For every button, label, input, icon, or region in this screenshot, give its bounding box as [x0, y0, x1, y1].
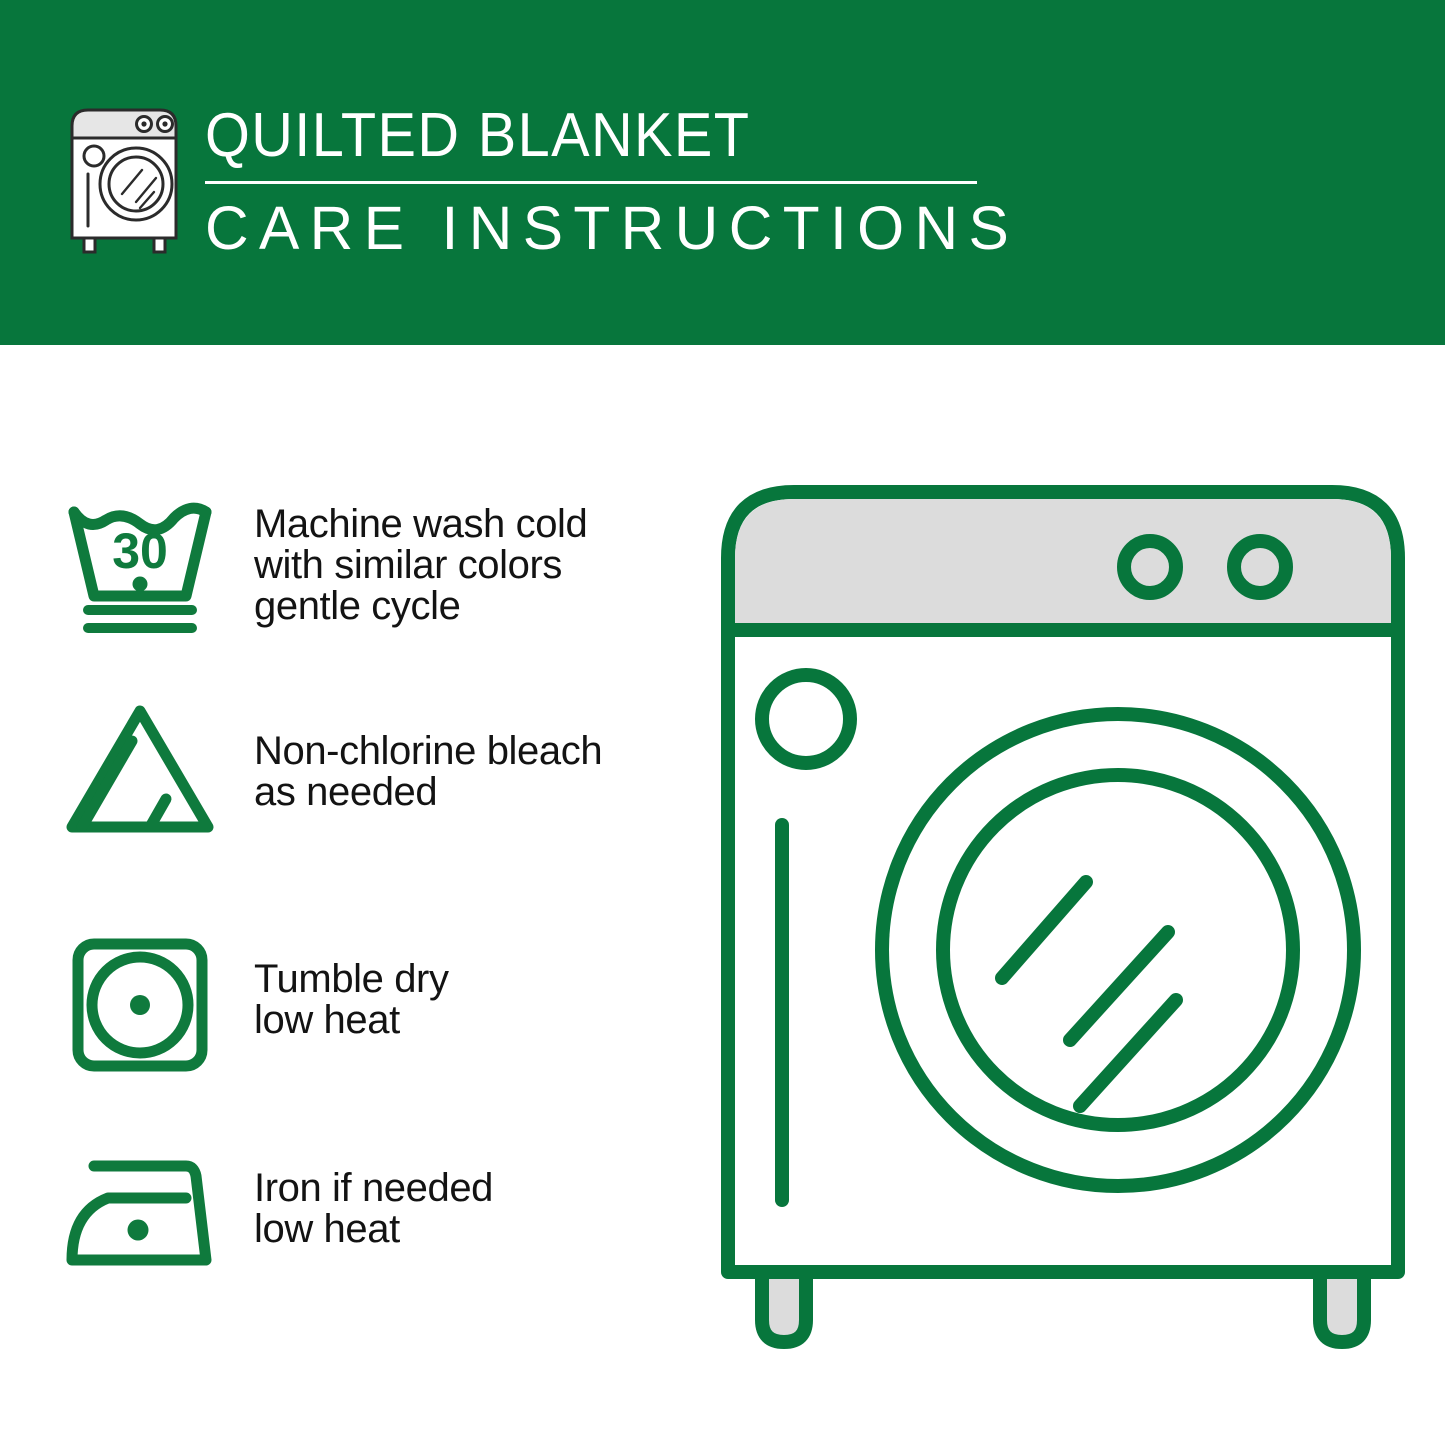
page-subtitle: CARE INSTRUCTIONS — [205, 195, 972, 261]
care-text-iron: Iron if needed low heat — [240, 1140, 680, 1250]
machine-wash-30-gentle-icon: 30 — [60, 488, 240, 638]
title-divider — [205, 181, 977, 184]
header-banner: QUILTED BLANKET CARE INSTRUCTIONS — [0, 0, 1445, 345]
care-line: Machine wash cold — [254, 504, 680, 545]
iron-low-heat-icon — [60, 1140, 240, 1290]
wash-temperature-value: 30 — [112, 523, 168, 579]
washing-machine-icon — [66, 104, 186, 256]
care-line: as needed — [254, 772, 680, 813]
care-line: with similar colors — [254, 545, 680, 586]
care-text-bleach: Non-chlorine bleach as needed — [240, 695, 680, 813]
care-instruction-list: 30 Machine wash cold with similar colors… — [0, 345, 700, 1445]
care-text-tumble-dry: Tumble dry low heat — [240, 930, 680, 1041]
care-line: Non-chlorine bleach — [254, 731, 680, 772]
care-line: Iron if needed — [254, 1168, 680, 1209]
front-load-washing-machine-illustration — [718, 470, 1408, 1370]
header-title-block: QUILTED BLANKET CARE INSTRUCTIONS — [205, 100, 980, 261]
care-text-machine-wash: Machine wash cold with similar colors ge… — [240, 488, 680, 627]
page-title: QUILTED BLANKET — [205, 100, 926, 172]
care-row-iron: Iron if needed low heat — [60, 1140, 680, 1290]
care-line: low heat — [254, 1000, 680, 1041]
care-line: Tumble dry — [254, 959, 680, 1000]
care-line: low heat — [254, 1209, 680, 1250]
care-instructions-page: QUILTED BLANKET CARE INSTRUCTIONS 30 — [0, 0, 1445, 1445]
care-row-bleach: Non-chlorine bleach as needed — [60, 695, 680, 845]
care-line: gentle cycle — [254, 586, 680, 627]
care-row-tumble-dry: Tumble dry low heat — [60, 930, 680, 1080]
tumble-dry-low-icon — [60, 930, 240, 1080]
non-chlorine-bleach-icon — [60, 695, 240, 845]
care-row-machine-wash: 30 Machine wash cold with similar colors… — [60, 488, 680, 638]
